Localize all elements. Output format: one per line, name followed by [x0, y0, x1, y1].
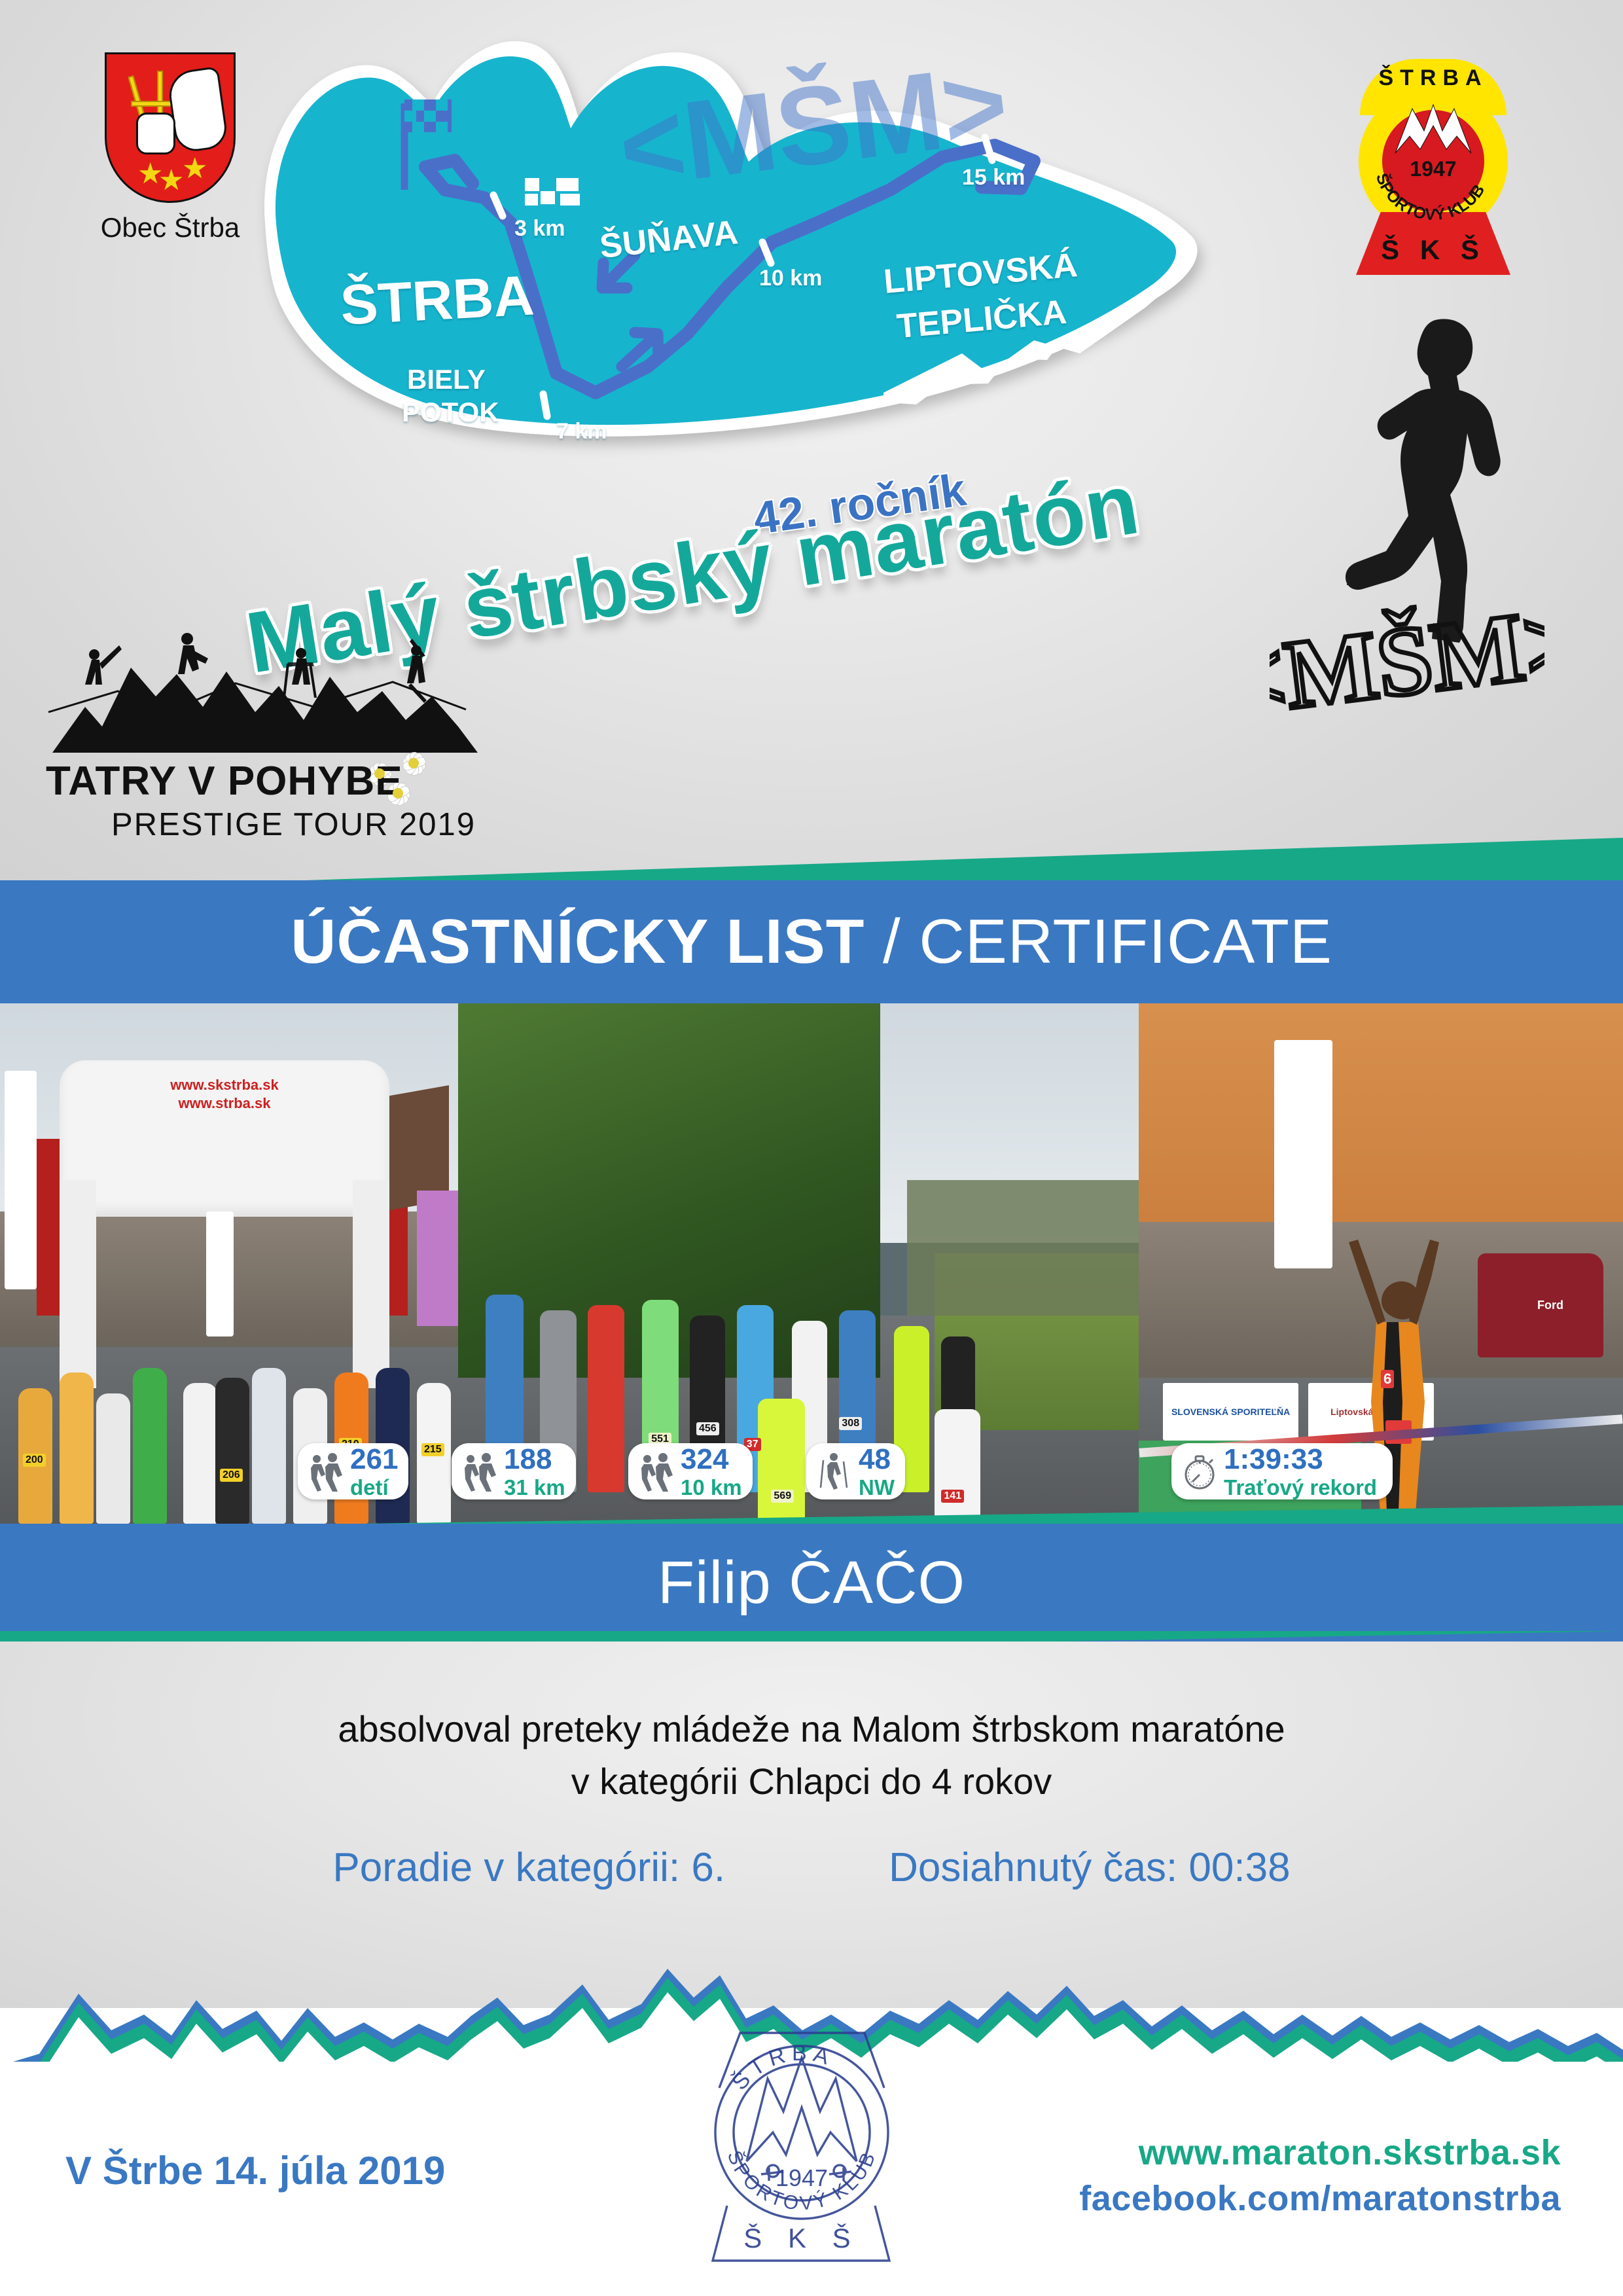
runners-icon — [636, 1451, 677, 1492]
certificate-title-sep: / — [865, 906, 919, 977]
stat-values: 324 10 km — [681, 1445, 742, 1498]
facebook-link[interactable]: facebook.com/maratonstrba — [1079, 2178, 1561, 2219]
stat-unit: Traťový rekord — [1224, 1477, 1377, 1498]
club-logo: ŠPORTOVÝ KLUB ŠTRBA 1947 Š K Š — [1342, 59, 1525, 275]
stat-unit: detí — [350, 1477, 398, 1498]
stat-pill-10km: 324 10 km — [628, 1443, 753, 1499]
photo2-bib-456: 456 — [696, 1422, 719, 1435]
map-marker-7km: 7 km — [556, 419, 607, 444]
map-marker-15km: 15 km — [962, 165, 1025, 190]
photo2-bib-569: 569 — [771, 1490, 794, 1503]
photo1-kid-2 — [60, 1372, 94, 1524]
photo1-feather-flag-1 — [5, 1071, 37, 1289]
photo3-bib: 6 — [1381, 1370, 1394, 1388]
map-place-strba: ŠTRBA — [339, 263, 536, 338]
photo2-bib-308: 308 — [839, 1417, 862, 1430]
photo1-bib-2: 206 — [220, 1469, 243, 1482]
photo3-sponsor-ford: Ford — [1516, 1289, 1584, 1321]
photo1-bib-1: 200 — [23, 1454, 46, 1467]
photo2-far-crowd — [907, 1180, 1139, 1316]
stat-unit: 31 km — [504, 1477, 565, 1498]
fist-shape — [136, 113, 175, 154]
certificate-title-en: CERTIFICATE — [919, 906, 1332, 977]
stat-pill-record: 1:39:33 Traťový rekord — [1171, 1443, 1393, 1499]
tour-subtitle: PRESTIGE TOUR 2019 — [111, 806, 476, 843]
participant-name-band: Filip ČAČO — [0, 1524, 1623, 1641]
stamp-arc-text: ŠTRBA — [727, 2041, 837, 2095]
footer-section: V Štrbe 14. júla 2019 ŠTRBA ŠPORTOVÝ KLU… — [0, 2062, 1623, 2296]
map-marker-3km: 3 km — [514, 216, 565, 242]
runners-icon — [306, 1451, 346, 1492]
nordic-walking-icon — [814, 1451, 855, 1492]
achieved-time: Dosiahnutý čas: 00:38 — [889, 1844, 1291, 1891]
mountain-range-icon — [39, 628, 491, 759]
msm-logo: <MŠM> — [1270, 583, 1544, 733]
stat-values: 261 detí — [350, 1445, 398, 1498]
stat-values: 48 NW — [859, 1445, 895, 1498]
description-text: absolvoval preteky mládeže na Malom štrb… — [0, 1703, 1623, 1807]
club-stamp: ŠTRBA ŠPORTOVÝ KLUB 1947 Š K Š — [684, 1990, 919, 2278]
place-date: V Štrbe 14. júla 2019 — [65, 2148, 445, 2193]
photo1-arch-line1: www.skstrba.sk — [60, 1076, 389, 1094]
map-place-biely: BIELY — [407, 364, 486, 395]
photo2-runner-front-green — [758, 1399, 805, 1524]
photo1-arch-line2: www.strba.sk — [60, 1094, 389, 1113]
map-marker-10km: 10 km — [759, 266, 822, 291]
photo1-purple-house — [417, 1191, 458, 1326]
footer-links: www.maraton.skstrba.sk facebook.com/mara… — [1079, 2132, 1561, 2219]
photo2-runner-front-white — [935, 1409, 980, 1524]
tour-logo: TATRY V POHYBE PRESTIGE TOUR 2019 — [39, 628, 491, 844]
photo1-kid-3 — [96, 1393, 130, 1524]
results-row: Poradie v kategórii: 6. Dosiahnutý čas: … — [0, 1844, 1623, 1891]
photo2-runner-3 — [588, 1305, 624, 1492]
stat-value: 324 — [681, 1445, 742, 1474]
stat-value: 1:39:33 — [1224, 1445, 1377, 1474]
runners-icon — [459, 1451, 500, 1492]
stat-unit: 10 km — [681, 1477, 742, 1498]
stat-values: 1:39:33 Traťový rekord — [1224, 1445, 1377, 1498]
certificate-band: ÚČASTNÍCKY LIST / CERTIFICATE — [0, 880, 1623, 1003]
msm-logo-text: <MŠM> — [1270, 586, 1544, 733]
category-rank: Poradie v kategórii: 6. — [332, 1844, 725, 1891]
stat-value: 261 — [350, 1445, 398, 1474]
photo1-feather-flag-2 — [206, 1211, 234, 1336]
photo1-kid-6 — [215, 1378, 249, 1524]
photo2-bib-141: 141 — [941, 1490, 964, 1503]
header-section: Obec Štrba <MŠM> — [0, 0, 1623, 880]
stat-pill-nw: 48 NW — [806, 1443, 905, 1499]
photo1-kid-5 — [183, 1383, 217, 1524]
club-year-label: 1947 — [1382, 157, 1484, 181]
stamp-year: 1947 — [776, 2164, 828, 2191]
website-link[interactable]: www.maraton.skstrba.sk — [1079, 2132, 1561, 2173]
stat-values: 188 31 km — [504, 1445, 565, 1498]
photo1-kid-4 — [133, 1368, 167, 1524]
stat-value: 48 — [859, 1445, 895, 1474]
photo1-arch-text: www.skstrba.sk www.strba.sk — [60, 1076, 389, 1112]
stat-pill-31km: 188 31 km — [452, 1443, 576, 1499]
stopwatch-icon — [1179, 1451, 1220, 1492]
photo1-kid-7 — [252, 1368, 286, 1524]
certificate-page: Obec Štrba <MŠM> — [0, 0, 1623, 2296]
description-line-1: absolvoval preteky mládeže na Malom štrb… — [0, 1703, 1623, 1755]
stat-pill-deti: 261 detí — [298, 1443, 408, 1499]
participant-name: Filip ČAČO — [658, 1549, 965, 1617]
stamp-banner-text: Š K Š — [743, 2223, 859, 2253]
photo1-bib-5: 215 — [421, 1443, 444, 1456]
photo3-sponsor-bank: SLOVENSKÁ SPORITEĽŇA — [1163, 1383, 1298, 1440]
map-place-potok: POTOK — [402, 397, 499, 428]
description-line-2: v kategórii Chlapci do 4 rokov — [0, 1755, 1623, 1808]
stat-unit: NW — [859, 1477, 895, 1498]
tour-title: TATRY V POHYBE — [46, 758, 403, 804]
club-arc-label: ŠTRBA — [1342, 65, 1525, 91]
photo1-arch-leg-right — [353, 1180, 389, 1388]
photo1-arch-leg-left — [60, 1180, 96, 1388]
club-banner-label: Š K Š — [1342, 234, 1525, 266]
certificate-title: ÚČASTNÍCKY LIST / CERTIFICATE — [291, 906, 1332, 978]
photo3-feather-flag — [1274, 1040, 1332, 1269]
coat-of-arms-icon — [105, 52, 236, 203]
stat-value: 188 — [504, 1445, 565, 1474]
certificate-title-sk: ÚČASTNÍCKY LIST — [291, 906, 865, 977]
